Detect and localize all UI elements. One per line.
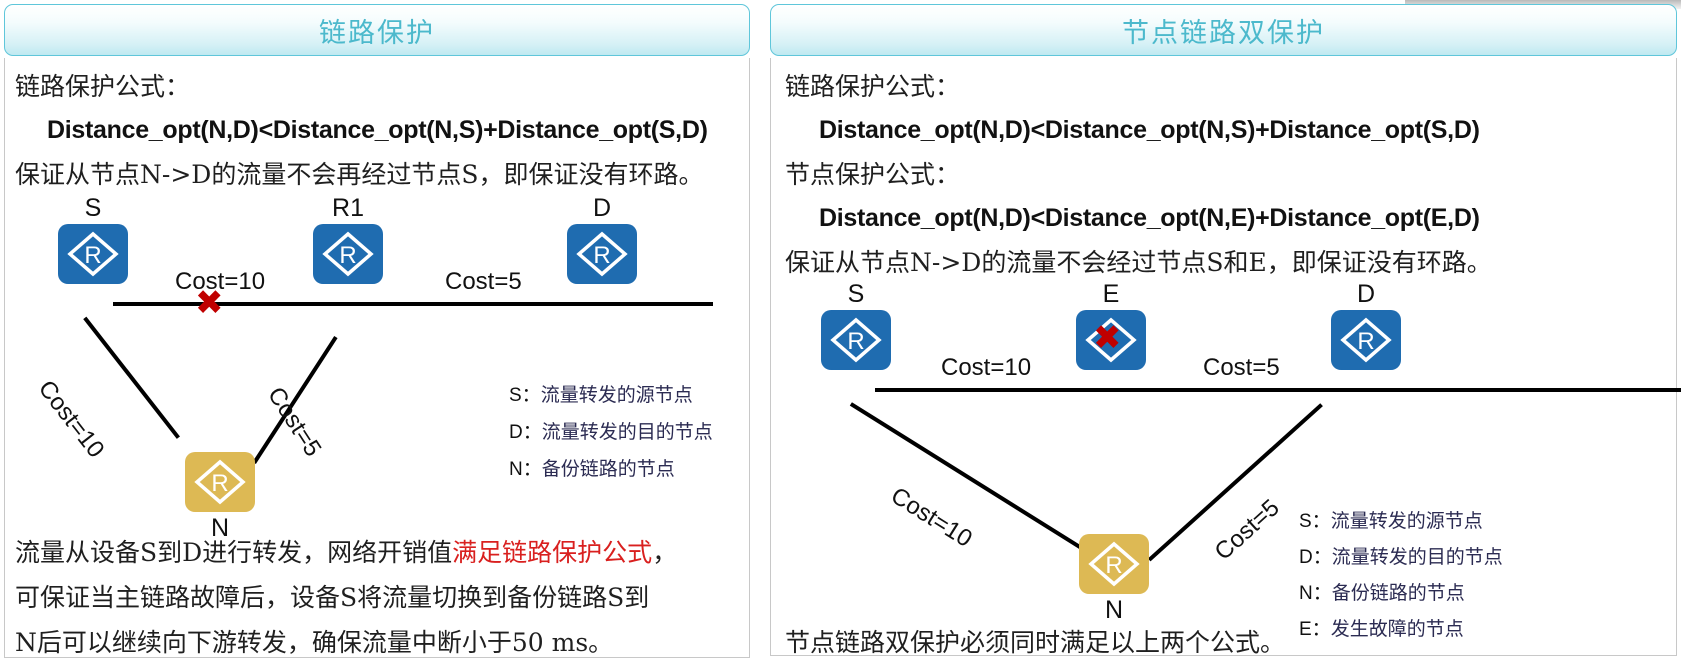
panel-link-protection: 链路保护 链路保护公式： Distance_opt(N,D)<Distance_… <box>0 0 754 658</box>
router-icon: R <box>821 310 891 370</box>
page-title-left: 链路保护 <box>319 11 435 50</box>
red-x-icon-link-failure: ✖ <box>195 286 224 320</box>
node-label-d: D <box>1331 280 1401 309</box>
svg-text:R: R <box>847 328 864 355</box>
node-label-r1: R1 <box>313 194 383 223</box>
legend-item-d: D：流量转发的目的节点 <box>1299 542 1503 569</box>
router-icon-r1[interactable]: R <box>313 224 383 284</box>
legend-key-d: D： <box>1299 547 1332 568</box>
legend-desc-d: 流量转发的目的节点 <box>542 421 713 443</box>
legend-key-n: N： <box>1299 583 1332 604</box>
diagram-link-protection: S R R1 R D R <box>5 198 755 528</box>
left-footer-1a: 流量从设备S到D进行转发，网络开销值 <box>15 538 452 567</box>
legend-item-s: S：流量转发的源节点 <box>509 380 693 407</box>
router-icon-d[interactable]: R <box>1331 310 1401 370</box>
left-formula-explain: 保证从节点N->D的流量不会再经过节点S，即保证没有环路。 <box>15 162 703 187</box>
node-label-n: N <box>1079 596 1149 625</box>
right-formula-explain: 保证从节点N->D的流量不会经过节点S和E，即保证没有环路。 <box>785 250 1492 275</box>
node-label-s: S <box>821 280 891 309</box>
diagram-node-link-dual-protection: S R E ✖ D R <box>771 284 1681 604</box>
legend-item-d: D：流量转发的目的节点 <box>509 417 713 444</box>
legend-key-s: S： <box>1299 511 1331 532</box>
router-icon: R <box>567 224 637 284</box>
router-icon-s[interactable]: R <box>821 310 891 370</box>
page-title-right: 节点链路双保护 <box>1122 11 1325 50</box>
legend-item-e: E：发生故障的节点 <box>1299 614 1464 641</box>
legend-desc-n: 备份链路的节点 <box>542 458 675 480</box>
link-s-n <box>84 317 180 439</box>
legend-desc-s: 流量转发的源节点 <box>541 384 693 406</box>
svg-text:R: R <box>339 242 356 269</box>
right-node-formula: Distance_opt(N,D)<Distance_opt(N,E)+Dist… <box>819 204 1480 233</box>
left-footer-line-1: 流量从设备S到D进行转发，网络开销值满足链路保护公式， <box>15 540 677 565</box>
cost-label-n-d: Cost=5 <box>1210 494 1286 566</box>
legend-key-n: N： <box>509 459 542 480</box>
router-icon-e[interactable]: ✖ <box>1076 310 1146 370</box>
svg-text:R: R <box>84 242 101 269</box>
right-link-formula-heading: 链路保护公式： <box>785 74 960 99</box>
router-icon: R <box>58 224 128 284</box>
cost-label-s-n: Cost=10 <box>886 482 977 553</box>
node-label-d: D <box>567 194 637 223</box>
router-icon-n[interactable]: R <box>185 452 255 512</box>
panel-body-right: 链路保护公式： Distance_opt(N,D)<Distance_opt(N… <box>770 58 1677 656</box>
cost-label-s-n: Cost=10 <box>32 375 110 463</box>
node-label-e: E <box>1076 280 1146 309</box>
router-icon: R <box>185 452 255 512</box>
svg-text:R: R <box>1105 552 1122 579</box>
legend-item-s: S：流量转发的源节点 <box>1299 506 1483 533</box>
legend-desc-d: 流量转发的目的节点 <box>1332 546 1503 568</box>
svg-text:R: R <box>1357 328 1374 355</box>
right-footer-line-1: 节点链路双保护必须同时满足以上两个公式。 <box>785 630 1285 655</box>
left-footer-1c: ， <box>652 538 677 567</box>
router-icon-d[interactable]: R <box>567 224 637 284</box>
router-icon: R <box>1331 310 1401 370</box>
legend-key-d: D： <box>509 422 542 443</box>
legend-desc-n: 备份链路的节点 <box>1332 582 1465 604</box>
left-footer-1b-accent: 满足链路保护公式 <box>452 538 652 567</box>
svg-text:R: R <box>593 242 610 269</box>
link-trunk <box>875 388 1681 392</box>
cost-label-s-e: Cost=10 <box>941 354 1031 382</box>
router-icon: R <box>313 224 383 284</box>
red-x-icon-node-failure: ✖ <box>1093 321 1122 355</box>
left-footer-line-3: N后可以继续向下游转发，确保流量中断小于50 ms。 <box>15 630 613 655</box>
panel-header-right: 节点链路双保护 <box>770 4 1677 56</box>
node-label-s: S <box>58 194 128 223</box>
panel-header-left: 链路保护 <box>4 4 750 56</box>
panel-body-left: 链路保护公式： Distance_opt(N,D)<Distance_opt(N… <box>4 58 750 658</box>
legend-desc-e: 发生故障的节点 <box>1331 618 1464 640</box>
cost-label-e-d: Cost=5 <box>1203 354 1280 382</box>
right-node-formula-heading: 节点保护公式： <box>785 162 960 187</box>
router-icon-n[interactable]: R <box>1079 534 1149 594</box>
legend-key-e: E： <box>1299 619 1331 640</box>
legend-item-n: N：备份链路的节点 <box>509 454 675 481</box>
panel-node-link-dual-protection: 节点链路双保护 链路保护公式： Distance_opt(N,D)<Distan… <box>766 0 1681 656</box>
left-footer-line-2: 可保证当主链路故障后，设备S将流量切换到备份链路S到 <box>15 585 649 610</box>
cost-label-n-r1: Cost=5 <box>261 382 326 462</box>
svg-text:R: R <box>211 470 228 497</box>
router-icon-s[interactable]: R <box>58 224 128 284</box>
left-formula-heading: 链路保护公式： <box>15 74 190 99</box>
router-icon: R <box>1079 534 1149 594</box>
legend-key-s: S： <box>509 385 541 406</box>
left-link-formula: Distance_opt(N,D)<Distance_opt(N,S)+Dist… <box>47 116 708 145</box>
right-link-formula: Distance_opt(N,D)<Distance_opt(N,S)+Dist… <box>819 116 1480 145</box>
legend-item-n: N：备份链路的节点 <box>1299 578 1465 605</box>
legend-desc-s: 流量转发的源节点 <box>1331 510 1483 532</box>
cost-label-r1-d: Cost=5 <box>445 268 522 296</box>
